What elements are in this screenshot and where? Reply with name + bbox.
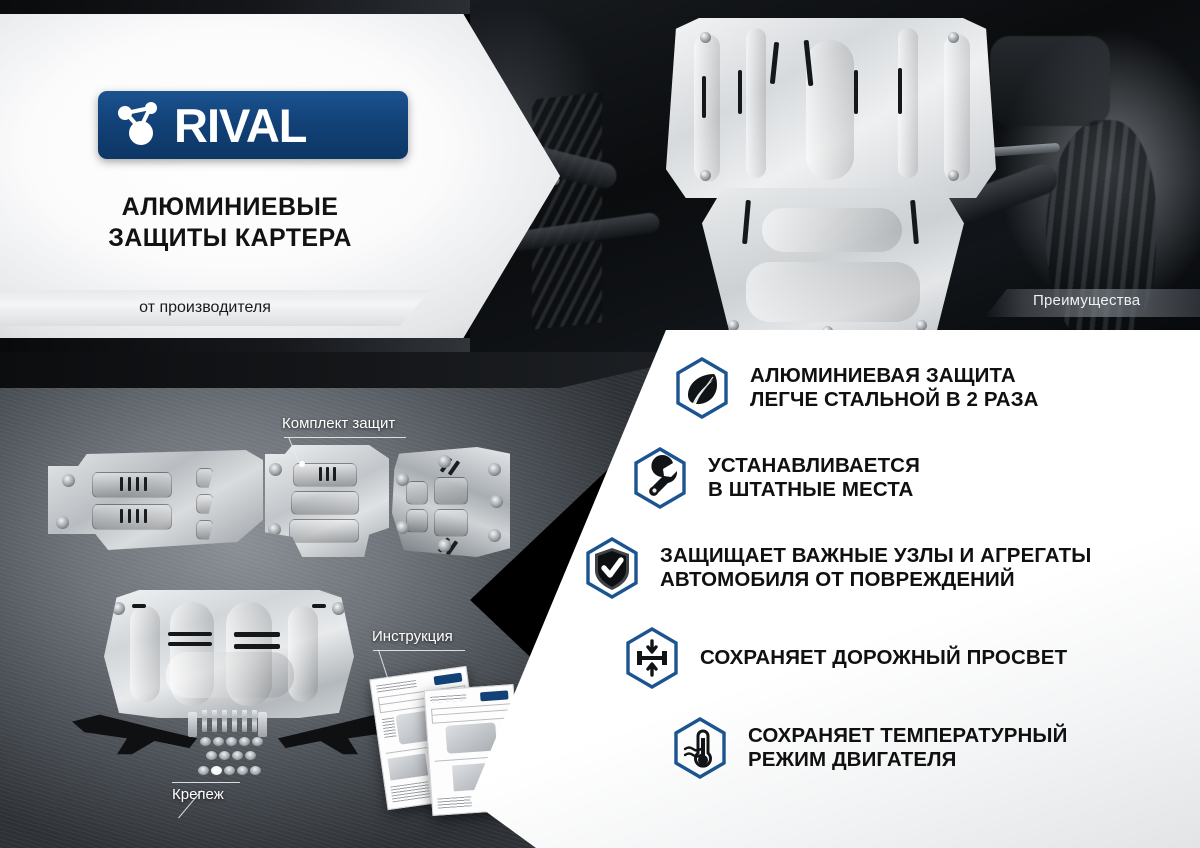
wrench-icon bbox=[628, 446, 692, 510]
callout-kit-label: Комплект защит bbox=[282, 415, 395, 432]
benefit-text-weight: АЛЮМИНИЕВАЯ ЗАЩИТА ЛЕГЧЕ СТАЛЬНОЙ В 2 РА… bbox=[750, 364, 1039, 412]
callout-kit-underline bbox=[284, 437, 406, 438]
benefit-item-temperature: СОХРАНЯЕТ ТЕМПЕРАТУРНЫЙ РЕЖИМ ДВИГАТЕЛЯ bbox=[668, 716, 1190, 780]
sheet-rival-logo-icon bbox=[480, 690, 509, 701]
skid-plate-upper bbox=[666, 18, 996, 198]
benefit-item-installation: УСТАНАВЛИВАЕТСЯ В ШТАТНЫЕ МЕСТА bbox=[628, 446, 1190, 510]
callout-fasteners-underline bbox=[172, 782, 240, 783]
benefit-line2: АВТОМОБИЛЯ ОТ ПОВРЕЖДЕНИЙ bbox=[660, 568, 1091, 592]
benefit-line2: В ШТАТНЫЕ МЕСТА bbox=[708, 478, 920, 502]
skid-plate-lower bbox=[702, 188, 964, 348]
callout-instruction-label: Инструкция bbox=[372, 628, 453, 645]
callout-kit-dot bbox=[299, 461, 305, 467]
benefit-item-clearance: СОХРАНЯЕТ ДОРОЖНЫЙ ПРОСВЕТ bbox=[620, 626, 1190, 690]
rival-molecule-icon bbox=[110, 99, 172, 151]
subtitle-text: от производителя bbox=[0, 290, 410, 326]
page-title: АЛЮМИНИЕВЫЕ ЗАЩИТЫ КАРТЕРА bbox=[20, 192, 440, 253]
benefit-text-clearance: СОХРАНЯЕТ ДОРОЖНЫЙ ПРОСВЕТ bbox=[700, 646, 1067, 670]
thermometer-icon bbox=[668, 716, 732, 780]
chassis-part bbox=[990, 36, 1110, 126]
benefit-item-protection: ЗАЩИЩАЕТ ВАЖНЫЕ УЗЛЫ И АГРЕГАТЫ АВТОМОБИ… bbox=[580, 536, 1190, 600]
callout-instruction-underline bbox=[373, 650, 465, 651]
benefit-text-protection: ЗАЩИЩАЕТ ВАЖНЫЕ УЗЛЫ И АГРЕГАТЫ АВТОМОБИ… bbox=[660, 544, 1091, 592]
header-top-edge bbox=[0, 0, 470, 14]
benefit-line1: АЛЮМИНИЕВАЯ ЗАЩИТА bbox=[750, 364, 1039, 388]
page-title-line2: ЗАЩИТЫ КАРТЕРА bbox=[20, 223, 440, 254]
skid-plate-part-3 bbox=[392, 447, 510, 557]
benefit-line1: ЗАЩИЩАЕТ ВАЖНЫЕ УЗЛЫ И АГРЕГАТЫ bbox=[660, 544, 1091, 568]
benefit-line1: УСТАНАВЛИВАЕТСЯ bbox=[708, 454, 920, 478]
page-title-line1: АЛЮМИНИЕВЫЕ bbox=[20, 192, 440, 223]
rival-wordmark: RIVAL bbox=[174, 102, 307, 149]
tire-tread-texture bbox=[532, 92, 602, 329]
advantages-ribbon-label: Преимущества bbox=[1033, 292, 1140, 309]
benefit-line1: СОХРАНЯЕТ ТЕМПЕРАТУРНЫЙ bbox=[748, 724, 1067, 748]
benefit-line2: ЛЕГЧЕ СТАЛЬНОЙ В 2 РАЗА bbox=[750, 388, 1039, 412]
benefit-line2: РЕЖИМ ДВИГАТЕЛЯ bbox=[748, 748, 1067, 772]
benefit-item-weight: АЛЮМИНИЕВАЯ ЗАЩИТА ЛЕГЧЕ СТАЛЬНОЙ В 2 РА… bbox=[670, 356, 1190, 420]
shield-check-icon bbox=[580, 536, 644, 600]
benefit-line1: СОХРАНЯЕТ ДОРОЖНЫЙ ПРОСВЕТ bbox=[700, 646, 1067, 670]
rival-logo: RIVAL bbox=[98, 91, 408, 159]
benefit-text-temperature: СОХРАНЯЕТ ТЕМПЕРАТУРНЫЙ РЕЖИМ ДВИГАТЕЛЯ bbox=[748, 724, 1067, 772]
advantages-ribbon: Преимущества bbox=[985, 289, 1200, 317]
skid-plate-main-large bbox=[104, 590, 354, 718]
sheet-rival-logo-icon bbox=[434, 673, 463, 686]
leaf-icon bbox=[670, 356, 734, 420]
header-bottom-edge bbox=[0, 338, 470, 352]
ground-clearance-icon bbox=[620, 626, 684, 690]
benefit-text-installation: УСТАНАВЛИВАЕТСЯ В ШТАТНЫЕ МЕСТА bbox=[708, 454, 920, 502]
benefits-list: АЛЮМИНИЕВАЯ ЗАЩИТА ЛЕГЧЕ СТАЛЬНОЙ В 2 РА… bbox=[610, 356, 1190, 784]
poster-root: Преимущества RIVAL АЛЮМИНИЕВЫЕ ЗАЩИТЫ КА… bbox=[0, 0, 1200, 848]
